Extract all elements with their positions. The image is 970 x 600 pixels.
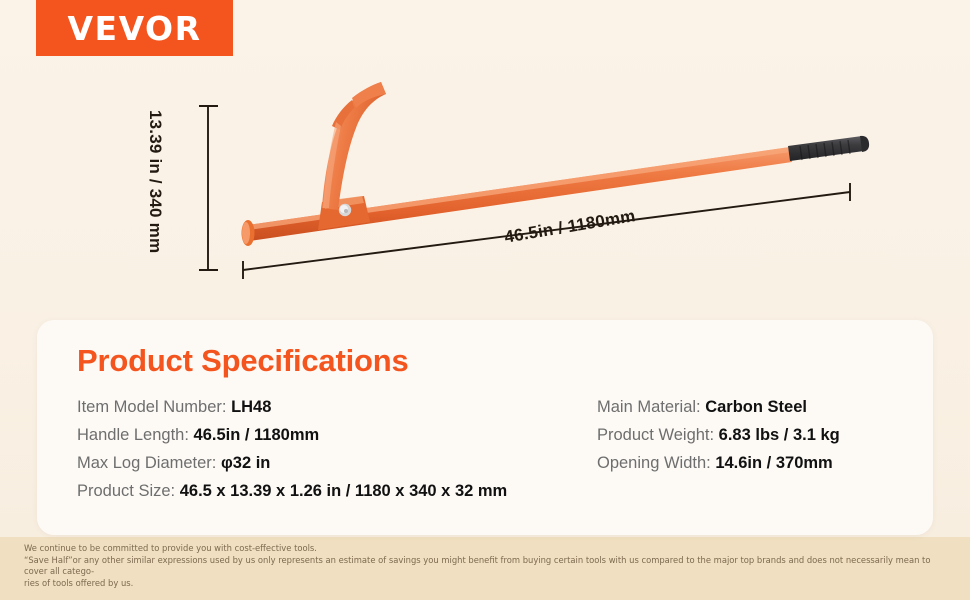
spec-label: Max Log Diameter: bbox=[77, 454, 221, 472]
spec-row: Handle Length: 46.5in / 1180mm bbox=[77, 421, 597, 449]
product-image bbox=[150, 70, 970, 300]
spec-row: Item Model Number: LH48 bbox=[77, 393, 597, 421]
disclaimer-line-3: ries of tools offered by us. bbox=[24, 578, 949, 590]
vevor-logo-text: VEVOR bbox=[67, 12, 201, 45]
spec-label: Opening Width: bbox=[597, 454, 715, 472]
spec-value: Carbon Steel bbox=[705, 398, 807, 416]
spec-label: Item Model Number: bbox=[77, 398, 231, 416]
spec-row: Max Log Diameter: φ32 in bbox=[77, 449, 597, 477]
product-spec-page: VEVOR bbox=[0, 0, 970, 600]
spec-label: Product Weight: bbox=[597, 426, 719, 444]
spec-row: Opening Width: 14.6in / 370mm bbox=[597, 449, 903, 477]
spec-label: Main Material: bbox=[597, 398, 705, 416]
spec-label: Product Size: bbox=[77, 482, 180, 500]
product-specifications-card: Product Specifications Item Model Number… bbox=[37, 320, 933, 535]
spec-column-right: Main Material: Carbon Steel Product Weig… bbox=[597, 393, 903, 477]
spec-value: 6.83 lbs / 3.1 kg bbox=[719, 426, 840, 444]
disclaimer-line-2: “Save Half”or any other similar expressi… bbox=[24, 555, 949, 578]
disclaimer-line-1: We continue to be committed to provide y… bbox=[24, 543, 949, 555]
vevor-logo: VEVOR bbox=[36, 0, 233, 56]
spec-row: Product Size: 46.5 x 13.39 x 1.26 in / 1… bbox=[77, 477, 597, 505]
dimension-line-height bbox=[199, 106, 218, 270]
spec-value: φ32 in bbox=[221, 454, 270, 472]
spec-row: Product Weight: 6.83 lbs / 3.1 kg bbox=[597, 421, 903, 449]
disclaimer-text: We continue to be committed to provide y… bbox=[24, 543, 949, 589]
spec-card-title: Product Specifications bbox=[77, 343, 409, 379]
tool-hook-arm bbox=[322, 82, 386, 210]
spec-row: Main Material: Carbon Steel bbox=[597, 393, 903, 421]
spec-value: LH48 bbox=[231, 398, 271, 416]
spec-column-left: Item Model Number: LH48 Handle Length: 4… bbox=[77, 393, 597, 505]
spec-value: 14.6in / 370mm bbox=[715, 454, 832, 472]
dimension-label-height: 13.39 in / 340 mm bbox=[145, 110, 165, 280]
tool-grip bbox=[788, 136, 869, 161]
spec-value: 46.5 x 13.39 x 1.26 in / 1180 x 340 x 32… bbox=[180, 482, 508, 500]
spec-value: 46.5in / 1180mm bbox=[194, 426, 320, 444]
spec-label: Handle Length: bbox=[77, 426, 194, 444]
